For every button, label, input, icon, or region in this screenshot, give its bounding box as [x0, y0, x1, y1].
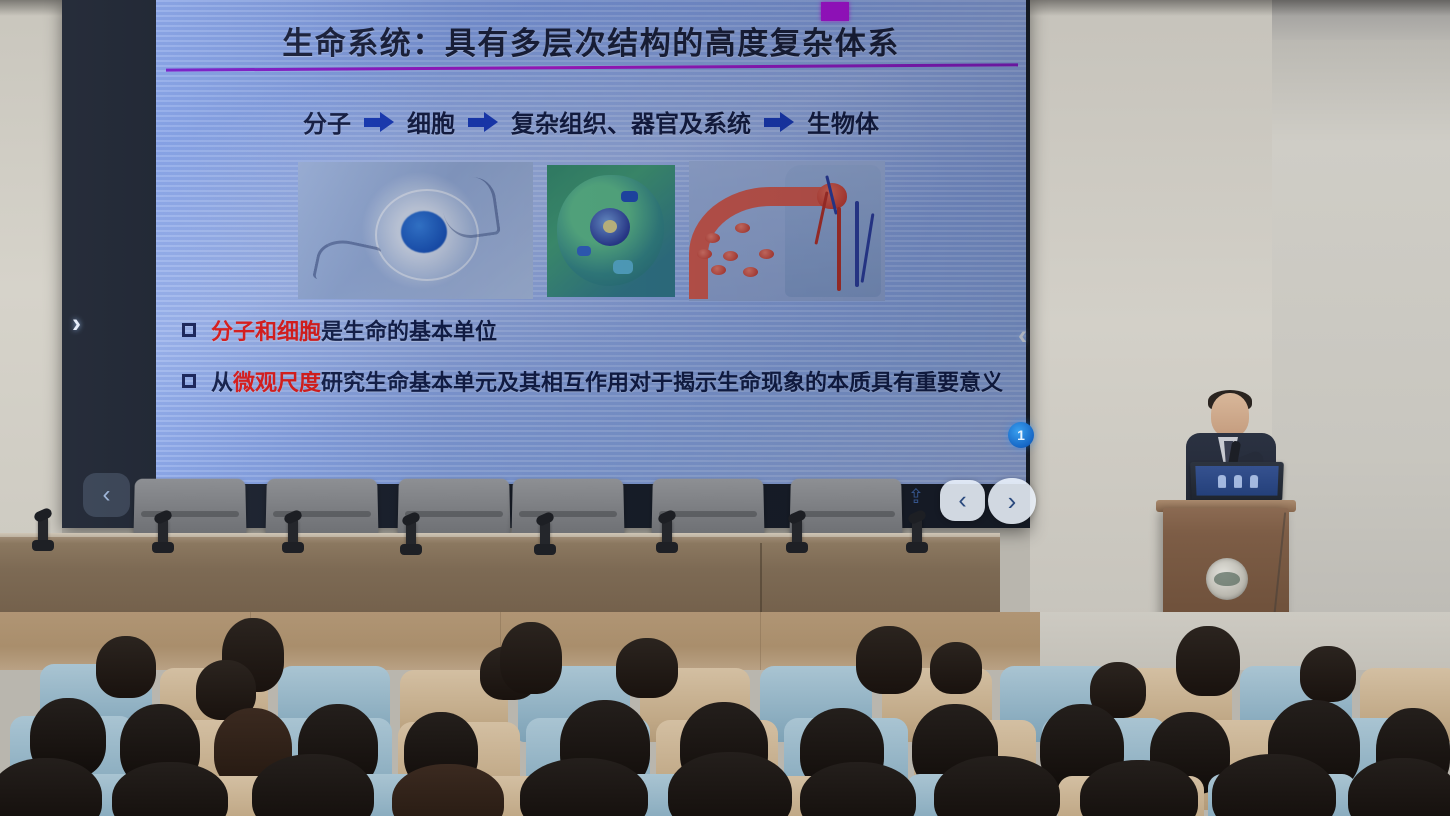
- panel-chairs: [0, 0, 1030, 560]
- presenter-laptop[interactable]: [1190, 462, 1284, 501]
- university-emblem: [1206, 558, 1248, 600]
- laptop-screen: [1195, 466, 1278, 496]
- presenter-head: [1211, 393, 1249, 437]
- right-wall: [1272, 0, 1450, 648]
- audience: [0, 612, 1450, 816]
- lecture-hall-scene: 生命系统：具有多层次结构的高度复杂体系 分子 细胞 复杂组织、器官及系统 生物体: [0, 0, 1450, 816]
